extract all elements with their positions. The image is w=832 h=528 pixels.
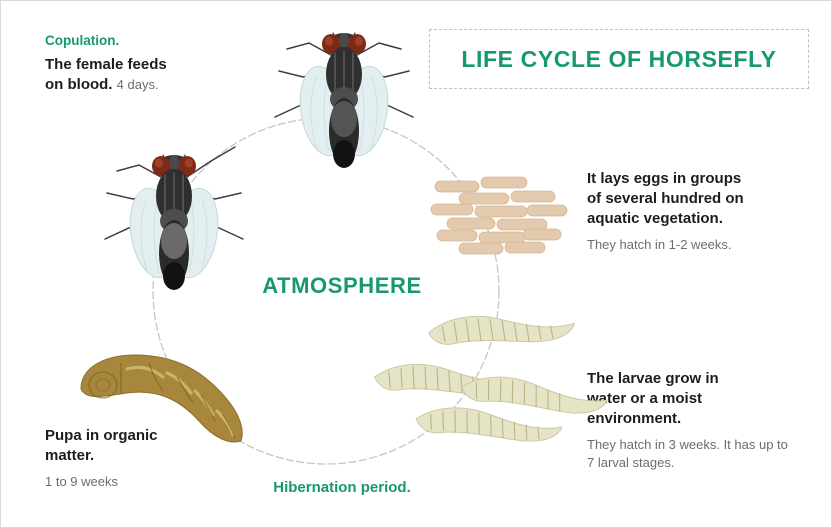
larvae-note-line1: They hatch in 3 weeks. It has up to <box>587 437 788 452</box>
copulation-line2: on blood. <box>45 76 112 93</box>
eggs-line3: aquatic vegetation. <box>587 210 723 227</box>
egg-cluster-icon <box>429 171 574 266</box>
copulation-heading: Copulation. <box>45 31 255 51</box>
pupa-duration: 1 to 9 weeks <box>45 473 245 491</box>
hibernation-label: Hibernation period. <box>227 479 457 496</box>
larvae-line3: environment. <box>587 410 681 427</box>
stage-text-eggs: It lays eggs in groups of several hundre… <box>587 169 819 254</box>
stage-text-larvae: The larvae grow in water or a moist envi… <box>587 369 819 472</box>
poster-canvas: LIFE CYCLE OF HORSEFLY ATMOSPHERE Hibern… <box>0 0 832 528</box>
larva-group-icon <box>371 319 576 454</box>
page-title: LIFE CYCLE OF HORSEFLY <box>461 46 776 73</box>
pupa-line2: matter. <box>45 447 94 464</box>
title-box: LIFE CYCLE OF HORSEFLY <box>429 29 809 89</box>
pupa-icon <box>75 349 260 447</box>
eggs-line2: of several hundred on <box>587 190 744 207</box>
copulation-line1: The female feeds <box>45 56 167 73</box>
copulation-duration: 4 days. <box>117 77 159 92</box>
stage-text-copulation: Copulation. The female feeds on blood. 4… <box>45 31 255 94</box>
atmosphere-label: ATMOSPHERE <box>247 273 437 299</box>
larvae-line1: The larvae grow in <box>587 370 719 387</box>
horsefly-top-icon <box>269 19 419 164</box>
eggs-note: They hatch in 1-2 weeks. <box>587 236 819 254</box>
eggs-line1: It lays eggs in groups <box>587 170 741 187</box>
horsefly-left-icon <box>99 141 249 286</box>
larvae-note-line2: 7 larval stages. <box>587 455 674 470</box>
